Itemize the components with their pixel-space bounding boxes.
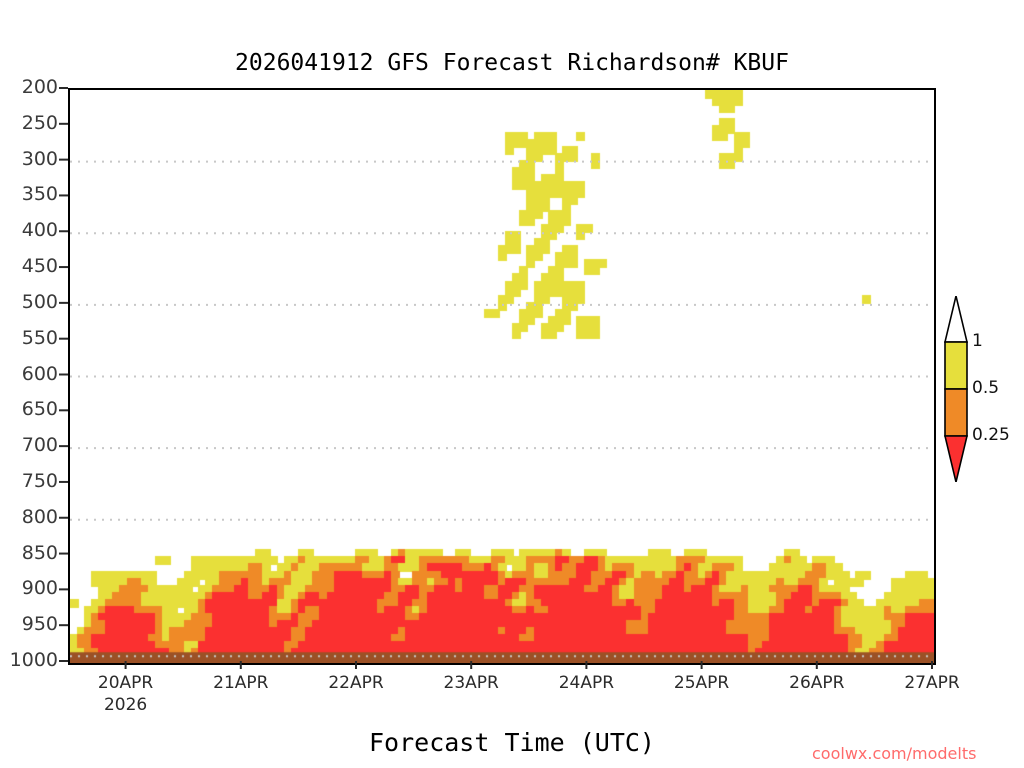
y-tick-label-1000: 1000	[10, 651, 58, 670]
y-tick-label-200: 200	[22, 78, 58, 97]
x-tick-label-21apr: 21APR	[201, 673, 281, 693]
y-tick-label-850: 850	[22, 544, 58, 563]
plot-area[interactable]	[68, 88, 936, 665]
y-tick-label-500: 500	[22, 293, 58, 312]
watermark-link[interactable]: coolwx.com/modelts	[812, 744, 976, 763]
x-tick-label-27apr: 27APR	[892, 673, 972, 693]
chart-figure: 2026041912 GFS Forecast Richardson# KBUF…	[0, 0, 1024, 768]
y-tick-label-750: 750	[22, 472, 58, 491]
x-tick-label-24apr: 24APR	[546, 673, 626, 693]
x-tick-label-22apr: 22APR	[316, 673, 396, 693]
colorbar-label-0point25: 0.25	[972, 425, 1010, 445]
x-tick-label-23apr: 23APR	[431, 673, 511, 693]
page-title: 2026041912 GFS Forecast Richardson# KBUF	[0, 50, 1024, 76]
y-tick-label-800: 800	[22, 508, 58, 527]
colorbar-label-1: 1	[972, 331, 983, 351]
colorbar-segment-orange	[945, 389, 967, 436]
x-tick-label-25apr: 25APR	[662, 673, 742, 693]
colorbar-segment-yellow	[945, 342, 967, 389]
y-tick-label-900: 900	[22, 579, 58, 598]
heatmap-canvas[interactable]	[70, 90, 934, 663]
y-tick-label-600: 600	[22, 365, 58, 384]
y-tick-label-550: 550	[22, 329, 58, 348]
y-tick-label-950: 950	[22, 615, 58, 634]
colorbar[interactable]	[944, 296, 968, 482]
y-tick-label-650: 650	[22, 400, 58, 419]
x-tick-label-20apr: 20APR	[86, 673, 166, 693]
y-tick-label-700: 700	[22, 436, 58, 455]
y-axis-tick-labels: 2002503003504004505005506006507007508008…	[0, 0, 58, 768]
colorbar-extend-top	[945, 296, 967, 342]
y-tick-label-400: 400	[22, 221, 58, 240]
y-tick-label-250: 250	[22, 114, 58, 133]
y-tick-label-350: 350	[22, 185, 58, 204]
colorbar-extend-bottom	[945, 436, 967, 482]
x-tick-label-26apr: 26APR	[777, 673, 857, 693]
y-tick-label-300: 300	[22, 150, 58, 169]
y-tick-label-450: 450	[22, 257, 58, 276]
x-axis-year-label: 2026	[86, 695, 166, 715]
colorbar-label-0point5: 0.5	[972, 378, 999, 398]
